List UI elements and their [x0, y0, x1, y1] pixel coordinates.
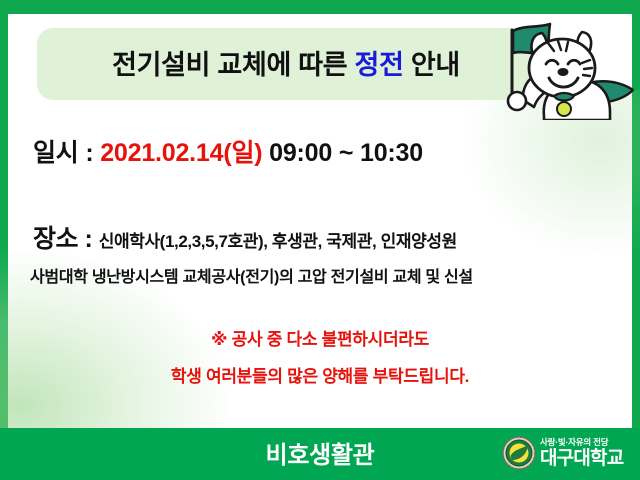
- place-line: 장소 : 신애학사(1,2,3,5,7호관), 후생관, 국제관, 인재양성원: [33, 219, 457, 255]
- university-name: 대구대학교: [540, 449, 623, 468]
- title-text-after: 안내: [404, 50, 460, 80]
- apology-notice: ※ 공사 중 다소 불편하시더라도 학생 여러분들의 많은 양해를 부탁드립니다…: [0, 325, 640, 387]
- datetime-line: 일시 : 2021.02.14(일) 09:00 ~ 10:30: [33, 133, 423, 169]
- white-tiger-mascot-icon: [492, 8, 640, 120]
- title-text-before: 전기설비 교체에 따른: [112, 50, 354, 80]
- apology-notice-line-1: ※ 공사 중 다소 불편하시더라도: [0, 325, 640, 350]
- datetime-time-value: 09:00 ~ 10:30: [262, 139, 423, 167]
- frame-left-bar: [0, 0, 8, 480]
- title-banner: 전기설비 교체에 따른 정전 안내: [37, 28, 535, 100]
- title-text-highlight: 정전: [355, 50, 404, 80]
- work-detail-line: 사범대학 냉난방시스템 교체공사(전기)의 고압 전기설비 교체 및 신설: [30, 263, 473, 287]
- apology-notice-line-2: 학생 여러분들의 많은 양해를 부탁드립니다.: [0, 362, 640, 387]
- university-logo-text: 사랑·빛·자유의 전당 대구대학교: [540, 438, 623, 468]
- notice-poster: 전기설비 교체에 따른 정전 안내: [0, 0, 640, 480]
- university-logo: 사랑·빛·자유의 전당 대구대학교: [502, 431, 632, 475]
- place-value: 신애학사(1,2,3,5,7호관), 후생관, 국제관, 인재양성원: [99, 232, 457, 251]
- place-label: 장소 :: [33, 225, 99, 253]
- page-title: 전기설비 교체에 따른 정전 안내: [112, 43, 460, 82]
- datetime-date-value: 2021.02.14(일): [100, 139, 262, 167]
- university-tagline: 사랑·빛·자유의 전당: [540, 438, 623, 447]
- datetime-label: 일시 :: [33, 139, 100, 167]
- university-seal-icon: [502, 436, 536, 470]
